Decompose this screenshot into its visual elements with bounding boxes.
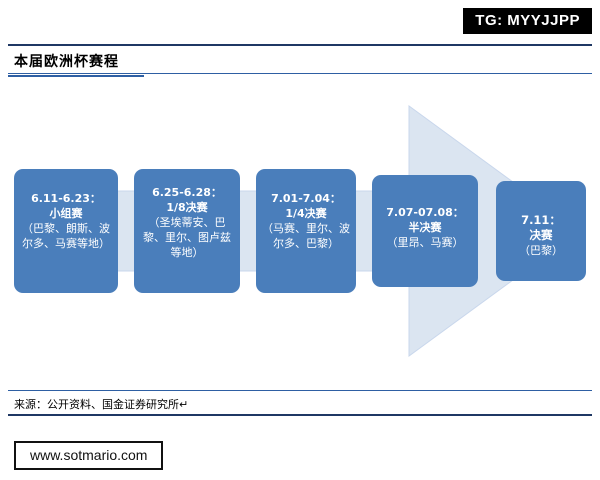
stage-card-group-stage[interactable]: 6.11-6.23： 小组赛 （巴黎、朗斯、波尔多、马赛等地） — [14, 169, 118, 293]
stage-name: 半决赛 — [372, 220, 478, 235]
stage-name: 1/4决赛 — [256, 206, 356, 221]
telegram-watermark-tag: TG: MYYJJPP — [463, 8, 592, 34]
stage-dates-and-name: 7.11： — [496, 213, 586, 228]
site-watermark-tag: www.sotmario.com — [14, 441, 163, 470]
stage-dates: 7.07-07.08： — [372, 205, 478, 220]
stage-card-semi-final[interactable]: 7.07-07.08： 半决赛 （里昂、马赛） — [372, 175, 478, 287]
stage-venues: （圣埃蒂安、巴黎、里尔、图卢兹等地） — [134, 215, 240, 260]
page-title: 本届欧洲杯赛程 — [14, 51, 119, 71]
stage-venues: （马赛、里尔、波尔多、巴黎） — [256, 221, 356, 251]
stage-card-final[interactable]: 7.11： 决赛 （巴黎） — [496, 181, 586, 281]
title-underline — [8, 75, 144, 77]
stage-card-quarter-final[interactable]: 7.01-7.04： 1/4决赛 （马赛、里尔、波尔多、巴黎） — [256, 169, 356, 293]
stage-card-round-of-16[interactable]: 6.25-6.28： 1/8决赛 （圣埃蒂安、巴黎、里尔、图卢兹等地） — [134, 169, 240, 293]
figure-source-bar: 来源：公开资料、国金证券研究所↵ — [8, 390, 592, 416]
stage-name: 决赛 — [496, 228, 586, 243]
stage-name: 小组赛 — [14, 206, 118, 221]
stage-venues: （巴黎、朗斯、波尔多、马赛等地） — [14, 221, 118, 251]
figure-title-bar: 本届欧洲杯赛程 — [8, 44, 592, 74]
stage-dates: 6.11-6.23： — [14, 191, 118, 206]
euro-cup-schedule-figure: 本届欧洲杯赛程 6.11-6.23： 小组赛 （巴黎、朗斯、波尔多、马赛等地） … — [8, 44, 592, 416]
stage-venues: （巴黎） — [496, 243, 586, 258]
stage-name: 1/8决赛 — [134, 200, 240, 215]
stage-venues: （里昂、马赛） — [372, 235, 478, 250]
stage-dates: 7.01-7.04： — [256, 191, 356, 206]
source-note: 来源：公开资料、国金证券研究所↵ — [14, 396, 188, 412]
stage-card-row: 6.11-6.23： 小组赛 （巴黎、朗斯、波尔多、马赛等地） 6.25-6.2… — [14, 169, 586, 294]
stage-dates: 6.25-6.28： — [134, 185, 240, 200]
